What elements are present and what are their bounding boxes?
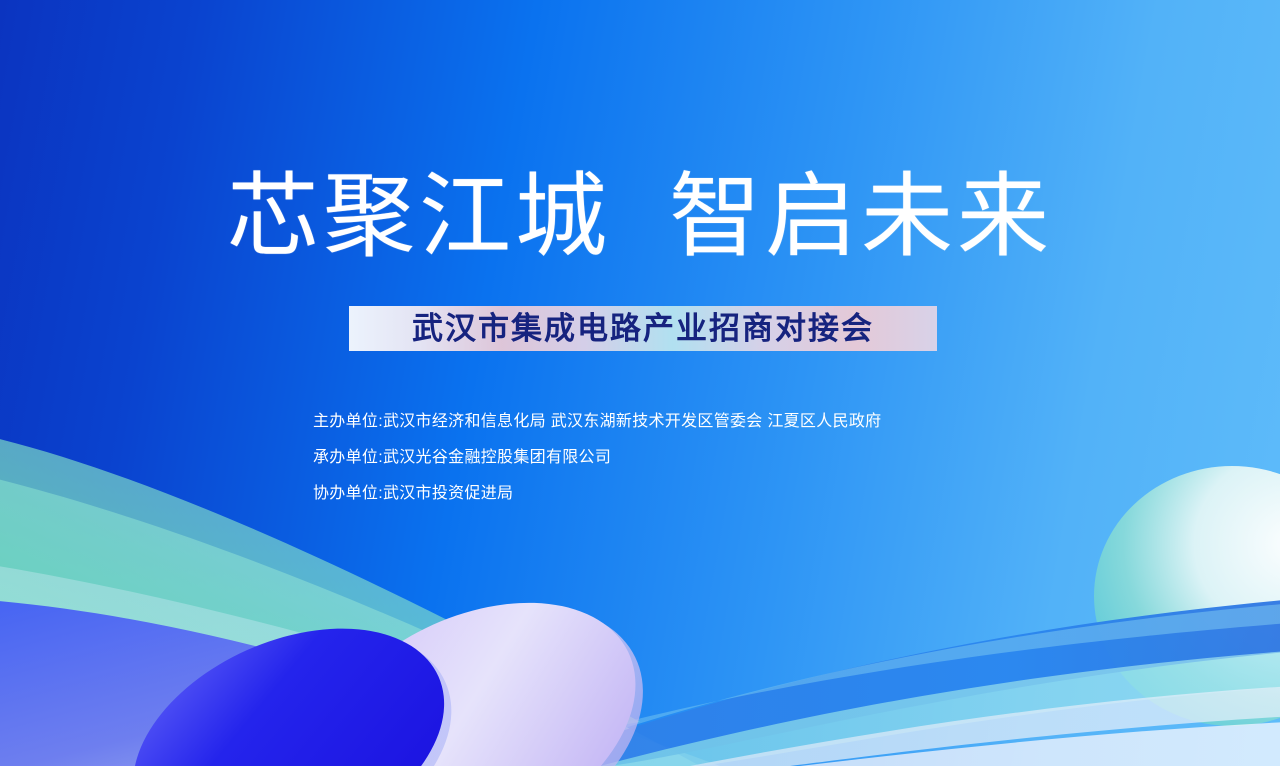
poster-canvas: 芯聚江城智启未来 武汉市集成电路产业招商对接会 主办单位:武汉市经济和信息化局 … xyxy=(0,0,1280,766)
organizer-line-coorganizer: 协办单位:武汉市投资促进局 xyxy=(313,486,881,502)
poster-content: 芯聚江城智启未来 武汉市集成电路产业招商对接会 主办单位:武汉市经济和信息化局 … xyxy=(0,0,1280,766)
headline-part-1: 芯聚江城 xyxy=(227,168,611,267)
poster-headline: 芯聚江城智启未来 xyxy=(0,168,1280,267)
organizer-block: 主办单位:武汉市经济和信息化局 武汉东湖新技术开发区管委会 江夏区人民政府 承办… xyxy=(313,414,881,502)
organizer-line-undertaker: 承办单位:武汉光谷金融控股集团有限公司 xyxy=(313,450,881,466)
subtitle-text: 武汉市集成电路产业招商对接会 xyxy=(412,313,874,344)
headline-part-2: 智启未来 xyxy=(669,168,1053,267)
organizer-line-host: 主办单位:武汉市经济和信息化局 武汉东湖新技术开发区管委会 江夏区人民政府 xyxy=(313,414,881,430)
subtitle-banner: 武汉市集成电路产业招商对接会 xyxy=(349,306,937,351)
